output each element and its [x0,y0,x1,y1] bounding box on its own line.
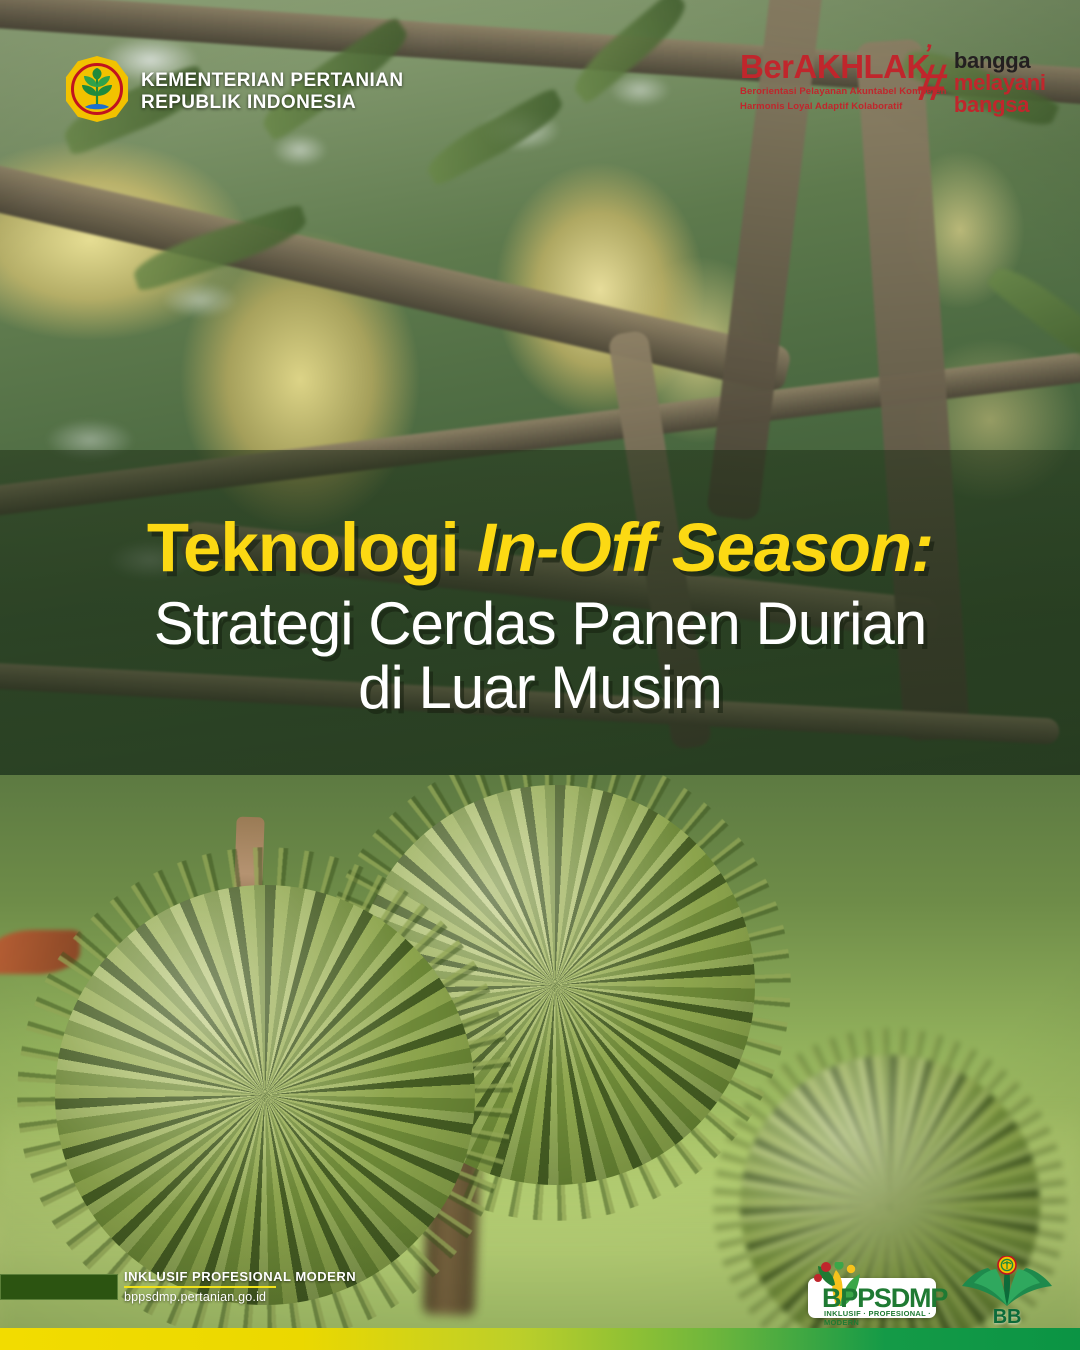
header: KEMENTERIAN PERTANIAN REPUBLIK INDONESIA… [0,0,1080,140]
footer-text-block: INKLUSIF PROFESIONAL MODERN bppsdmp.pert… [124,1269,356,1304]
bangga-melayani-bangsa-logo: # bangga melayani bangsa [918,48,1068,118]
footer-divider [124,1286,276,1288]
berakhlak-subline-2: Harmonis Loyal Adaptif Kolaboratif [740,101,920,113]
bangga-line-1: bangga [954,50,1046,72]
kementan-crest-icon [64,56,130,122]
durian-fruit-left [55,885,475,1305]
title-block: Teknologi In-Off Season: Strategi Cerdas… [0,450,1080,775]
hashtag-icon: # [915,61,950,106]
berakhlak-wordmark: BerAKHLAK’ [740,50,920,83]
berakhlak-wordmark-text: BerAKHLAK [740,48,930,85]
kementan-plant-glyph [76,67,118,111]
branch-decor [0,128,793,393]
open-book-icon [958,1256,1056,1312]
kementan-line-2: REPUBLIK INDONESIA [141,92,403,114]
footer-accent-bar [0,1274,118,1300]
footer-tagline: INKLUSIF PROFESIONAL MODERN [124,1269,356,1284]
page-subtitle-line1: Strategi Cerdas Panen Durian [154,592,926,656]
bottom-gradient-strip [0,1328,1080,1350]
bbpustaka-logo: BB PUSTAKA [944,1256,1070,1330]
berakhlak-subline-1: Berorientasi Pelayanan Akuntabel Kompete… [740,86,920,98]
bangga-lines: bangga melayani bangsa [954,50,1046,116]
page-title: Teknologi In-Off Season: [147,513,933,582]
bangga-line-3: bangsa [954,94,1046,116]
page-subtitle-line2: di Luar Musim [154,656,926,720]
kementan-wordmark: KEMENTERIAN PERTANIAN REPUBLIK INDONESIA [141,70,403,115]
bppsdmp-subline: INKLUSIF · PROFESIONAL · MODERN [824,1309,940,1327]
page-subtitle: Strategi Cerdas Panen Durian di Luar Mus… [154,592,926,720]
footer-url[interactable]: bppsdmp.pertanian.go.id [124,1290,356,1304]
bppsdmp-logo: BPPSDMP INKLUSIF · PROFESIONAL · MODERN [800,1262,940,1326]
bangga-line-2: melayani [954,72,1046,94]
poster-root: Teknologi In-Off Season: Strategi Cerdas… [0,0,1080,1350]
page-title-italic: In-Off Season: [477,509,933,586]
berakhlak-logo: BerAKHLAK’ Berorientasi Pelayanan Akunta… [740,50,920,116]
kementan-line-1: KEMENTERIAN PERTANIAN [141,70,403,92]
page-title-plain: Teknologi [147,509,477,586]
